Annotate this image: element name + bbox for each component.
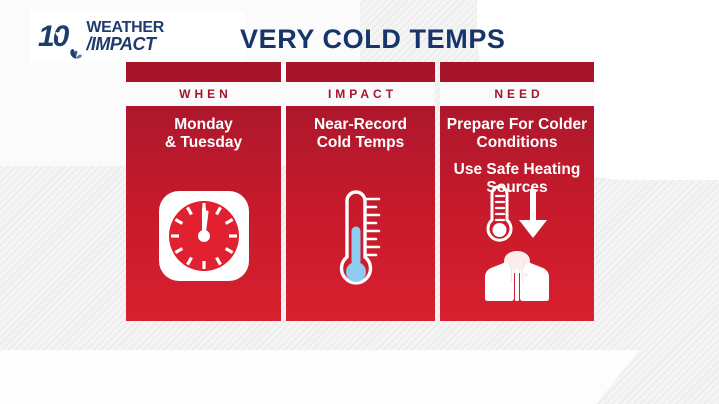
panel-impact: IMPACT Near-Record Cold Temps <box>286 62 435 321</box>
thermometer-down-arrow-icon <box>474 184 560 244</box>
panel-need-paragraph: Prepare For Colder Conditions <box>432 116 602 152</box>
weather-graphic-stage: 10 ♥ WEATHER /IMPACT VERY COLD TEMPS WHE… <box>0 0 719 404</box>
panel-when-header-band: WHEN <box>126 82 281 106</box>
panel-need-line: Prepare For Colder <box>432 116 602 134</box>
panel-when-line: Monday <box>118 116 289 134</box>
panel-need-header-band: NEED <box>440 82 594 106</box>
panel-when: WHEN Monday & Tuesday <box>126 62 281 321</box>
background-white-bottom-band <box>0 350 580 404</box>
panel-impact-line: Near-Record <box>278 116 443 134</box>
channel-number: 10 ♥ <box>38 22 67 52</box>
logo-impact-text: /IMPACT <box>86 36 164 53</box>
panel-impact-paragraph: Near-Record Cold Temps <box>278 116 443 152</box>
thermometer-icon <box>333 187 389 291</box>
panel-impact-icon-slot <box>286 187 435 291</box>
page-title: VERY COLD TEMPS <box>240 24 506 55</box>
winter-jacket-icon <box>475 248 559 306</box>
panel-impact-header-label: IMPACT <box>324 87 397 101</box>
panel-need-line: Use Safe Heating <box>432 161 602 179</box>
panel-when-header-label: WHEN <box>175 87 232 101</box>
heart-icon: ♥ <box>55 31 62 38</box>
nbc-peacock-icon <box>68 44 84 60</box>
panel-when-paragraph: Monday & Tuesday <box>118 116 289 152</box>
panel-need: NEED Prepare For Colder Conditions Use S… <box>440 62 594 321</box>
panel-need-header-label: NEED <box>490 87 543 101</box>
logo-wordmark: WEATHER /IMPACT <box>86 21 164 53</box>
clock-icon <box>158 190 250 282</box>
station-logo: 10 ♥ WEATHER /IMPACT <box>30 11 245 63</box>
panel-need-icon-slot-2 <box>440 248 594 306</box>
panel-when-icon-slot <box>126 190 281 282</box>
panel-impact-line: Cold Temps <box>278 134 443 152</box>
panel-need-line: Conditions <box>432 134 602 152</box>
panel-when-body-text: Monday & Tuesday <box>118 116 289 152</box>
panel-need-icon-slot-1 <box>440 184 594 244</box>
panel-impact-body-text: Near-Record Cold Temps <box>278 116 443 152</box>
panel-impact-header-band: IMPACT <box>286 82 435 106</box>
channel-number-text: 10 <box>38 20 67 53</box>
panel-when-line: & Tuesday <box>118 134 289 152</box>
